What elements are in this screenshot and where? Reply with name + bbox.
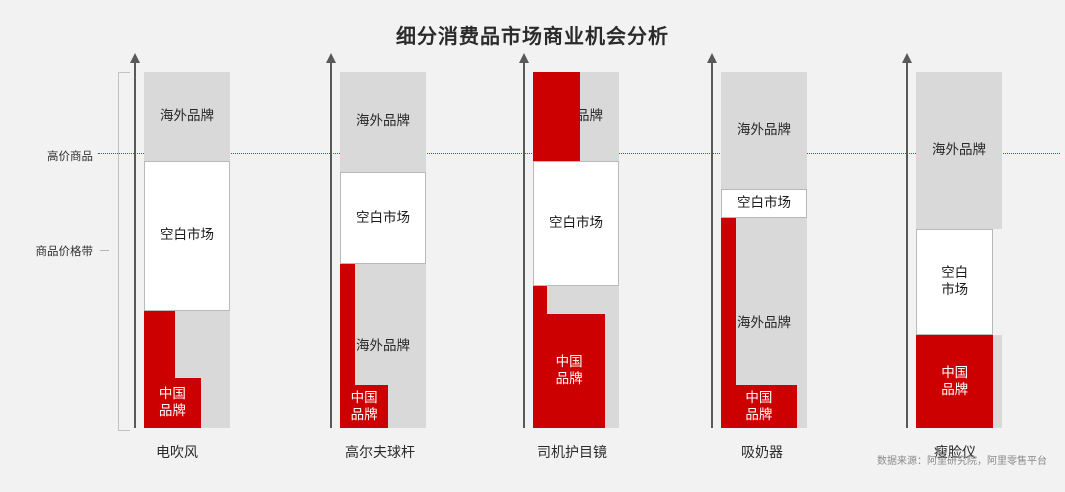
bar-segment-overseas[interactable]: 海外品牌 xyxy=(340,72,426,172)
bar-segment-label: 空白市场 xyxy=(737,195,791,212)
category-label: 高尔夫球杆 xyxy=(310,442,450,462)
bar-segment-china[interactable]: 中国 品牌 xyxy=(916,335,993,428)
bar-segment-blank[interactable]: 空白市场 xyxy=(533,161,619,286)
bar-column[interactable]: 海外品牌空白市场中国 品牌 xyxy=(144,72,230,428)
bar-segment-label: 海外品牌 xyxy=(737,122,791,139)
bar-segment-blank[interactable]: 空白 市场 xyxy=(916,229,993,336)
bar-segment-china[interactable] xyxy=(533,72,580,161)
bar-segment-china[interactable]: 中国 品牌 xyxy=(721,385,797,428)
bar-segment-label: 空白市场 xyxy=(549,215,603,232)
bar-segment-china[interactable] xyxy=(721,218,736,385)
bar-segment-label: 空白市场 xyxy=(356,210,410,227)
bar-segment-label: 中国 品牌 xyxy=(745,390,772,424)
chart-root: 细分消费品市场商业机会分析 高价商品 商品价格带 海外品牌空白市场中国 品牌电吹… xyxy=(0,0,1065,492)
axis-label-price-band: 商品价格带 xyxy=(8,243,93,259)
bar-segment-china[interactable] xyxy=(533,286,547,314)
bar-segment-label: 海外品牌 xyxy=(932,142,986,159)
bar-segment-label: 海外品牌 xyxy=(160,108,214,125)
bar-segment-label: 空白 市场 xyxy=(941,265,968,299)
category-label: 电吹风 xyxy=(107,442,247,462)
bar-column[interactable]: 海外品牌空白 市场中国 品牌 xyxy=(916,72,1002,428)
value-axis-arrow xyxy=(906,62,908,428)
bar-segment-overseas[interactable]: 海外品牌 xyxy=(721,72,807,189)
bar-column[interactable]: 海外品牌空白市场中国 品牌 xyxy=(533,72,619,428)
category-label: 司机护目镜 xyxy=(502,442,642,462)
value-axis-arrow xyxy=(330,62,332,428)
value-axis-arrow xyxy=(711,62,713,428)
category-label: 吸奶器 xyxy=(692,442,832,462)
bar-segment-label: 海外品牌 xyxy=(356,113,410,130)
bar-segment-blank[interactable]: 空白市场 xyxy=(721,189,807,217)
bar-segment-blank[interactable]: 空白市场 xyxy=(340,172,426,265)
source-note: 数据来源：阿里研究院，阿里零售平台 xyxy=(877,452,1047,467)
bar-segment-label: 中国 品牌 xyxy=(159,386,186,420)
bar-segment-label: 海外品牌 xyxy=(737,315,791,332)
bar-segment-label: 空白市场 xyxy=(160,227,214,244)
bar-segment-label: 中国 品牌 xyxy=(351,390,378,424)
bar-segment-china[interactable] xyxy=(144,311,175,379)
bar-segment-label: 中国 品牌 xyxy=(556,354,583,388)
bar-segment-overseas[interactable]: 海外品牌 xyxy=(916,72,1002,229)
price-band-tick xyxy=(100,250,109,251)
bar-segment-label: 中国 品牌 xyxy=(941,365,968,399)
bar-segment-china[interactable] xyxy=(340,264,355,385)
bar-segment-label: 海外品牌 xyxy=(356,338,410,355)
bar-segment-china[interactable]: 中国 品牌 xyxy=(533,314,605,428)
value-axis-arrow xyxy=(134,62,136,428)
bar-segment-china[interactable]: 中国 品牌 xyxy=(340,385,388,428)
axis-label-high-price: 高价商品 xyxy=(18,148,93,164)
chart-title: 细分消费品市场商业机会分析 xyxy=(0,20,1065,49)
bar-column[interactable]: 海外品牌空白市场海外品牌中国 品牌 xyxy=(340,72,426,428)
bar-segment-china[interactable]: 中国 品牌 xyxy=(144,378,201,428)
bar-segment-overseas[interactable]: 海外品牌 xyxy=(144,72,230,161)
bar-segment-blank[interactable]: 空白市场 xyxy=(144,161,230,311)
bar-column[interactable]: 海外品牌空白市场海外品牌中国 品牌 xyxy=(721,72,807,428)
value-axis-arrow xyxy=(523,62,525,428)
price-band-bracket xyxy=(118,72,130,431)
